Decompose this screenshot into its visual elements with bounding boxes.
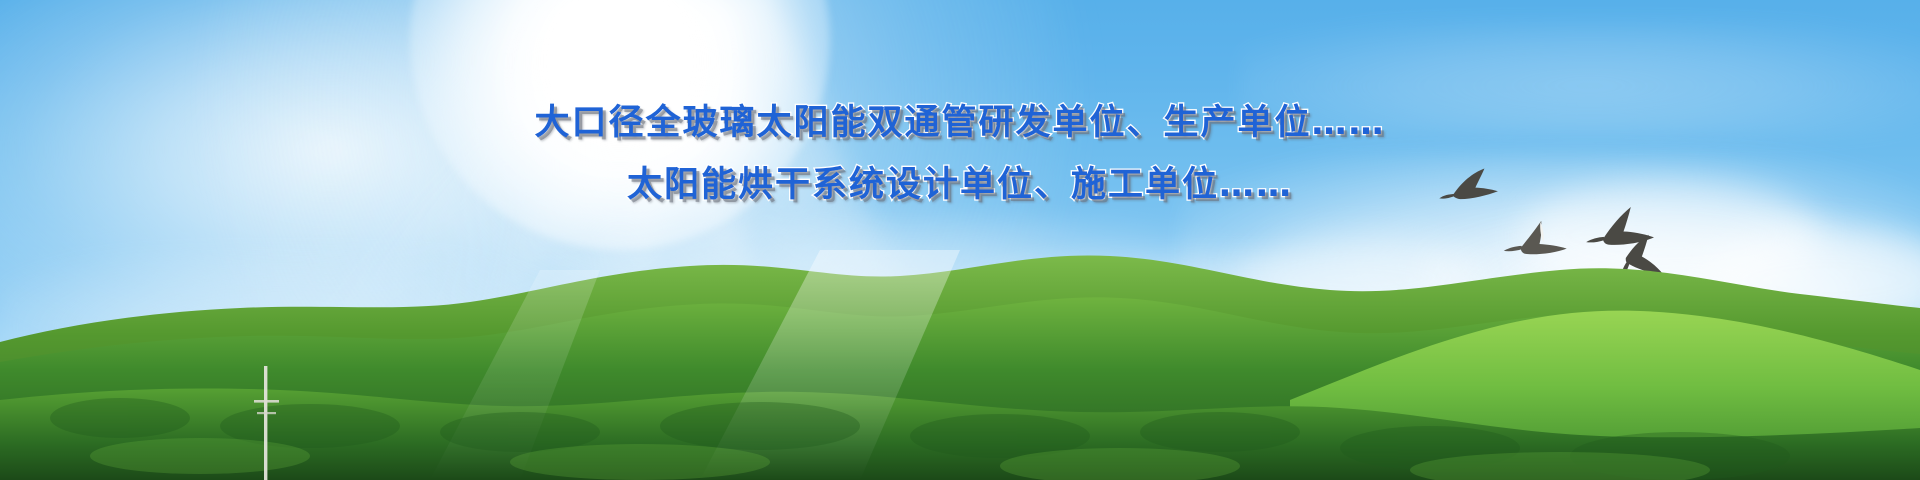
solar-company-banner: 大口径全玻璃太阳能双通管研发单位、生产单位…… 太阳能烘干系统设计单位、施工单位… <box>0 0 1920 480</box>
utility-pole <box>248 360 284 480</box>
green-forested-hills <box>0 250 1920 480</box>
bird-icon <box>1437 167 1499 201</box>
